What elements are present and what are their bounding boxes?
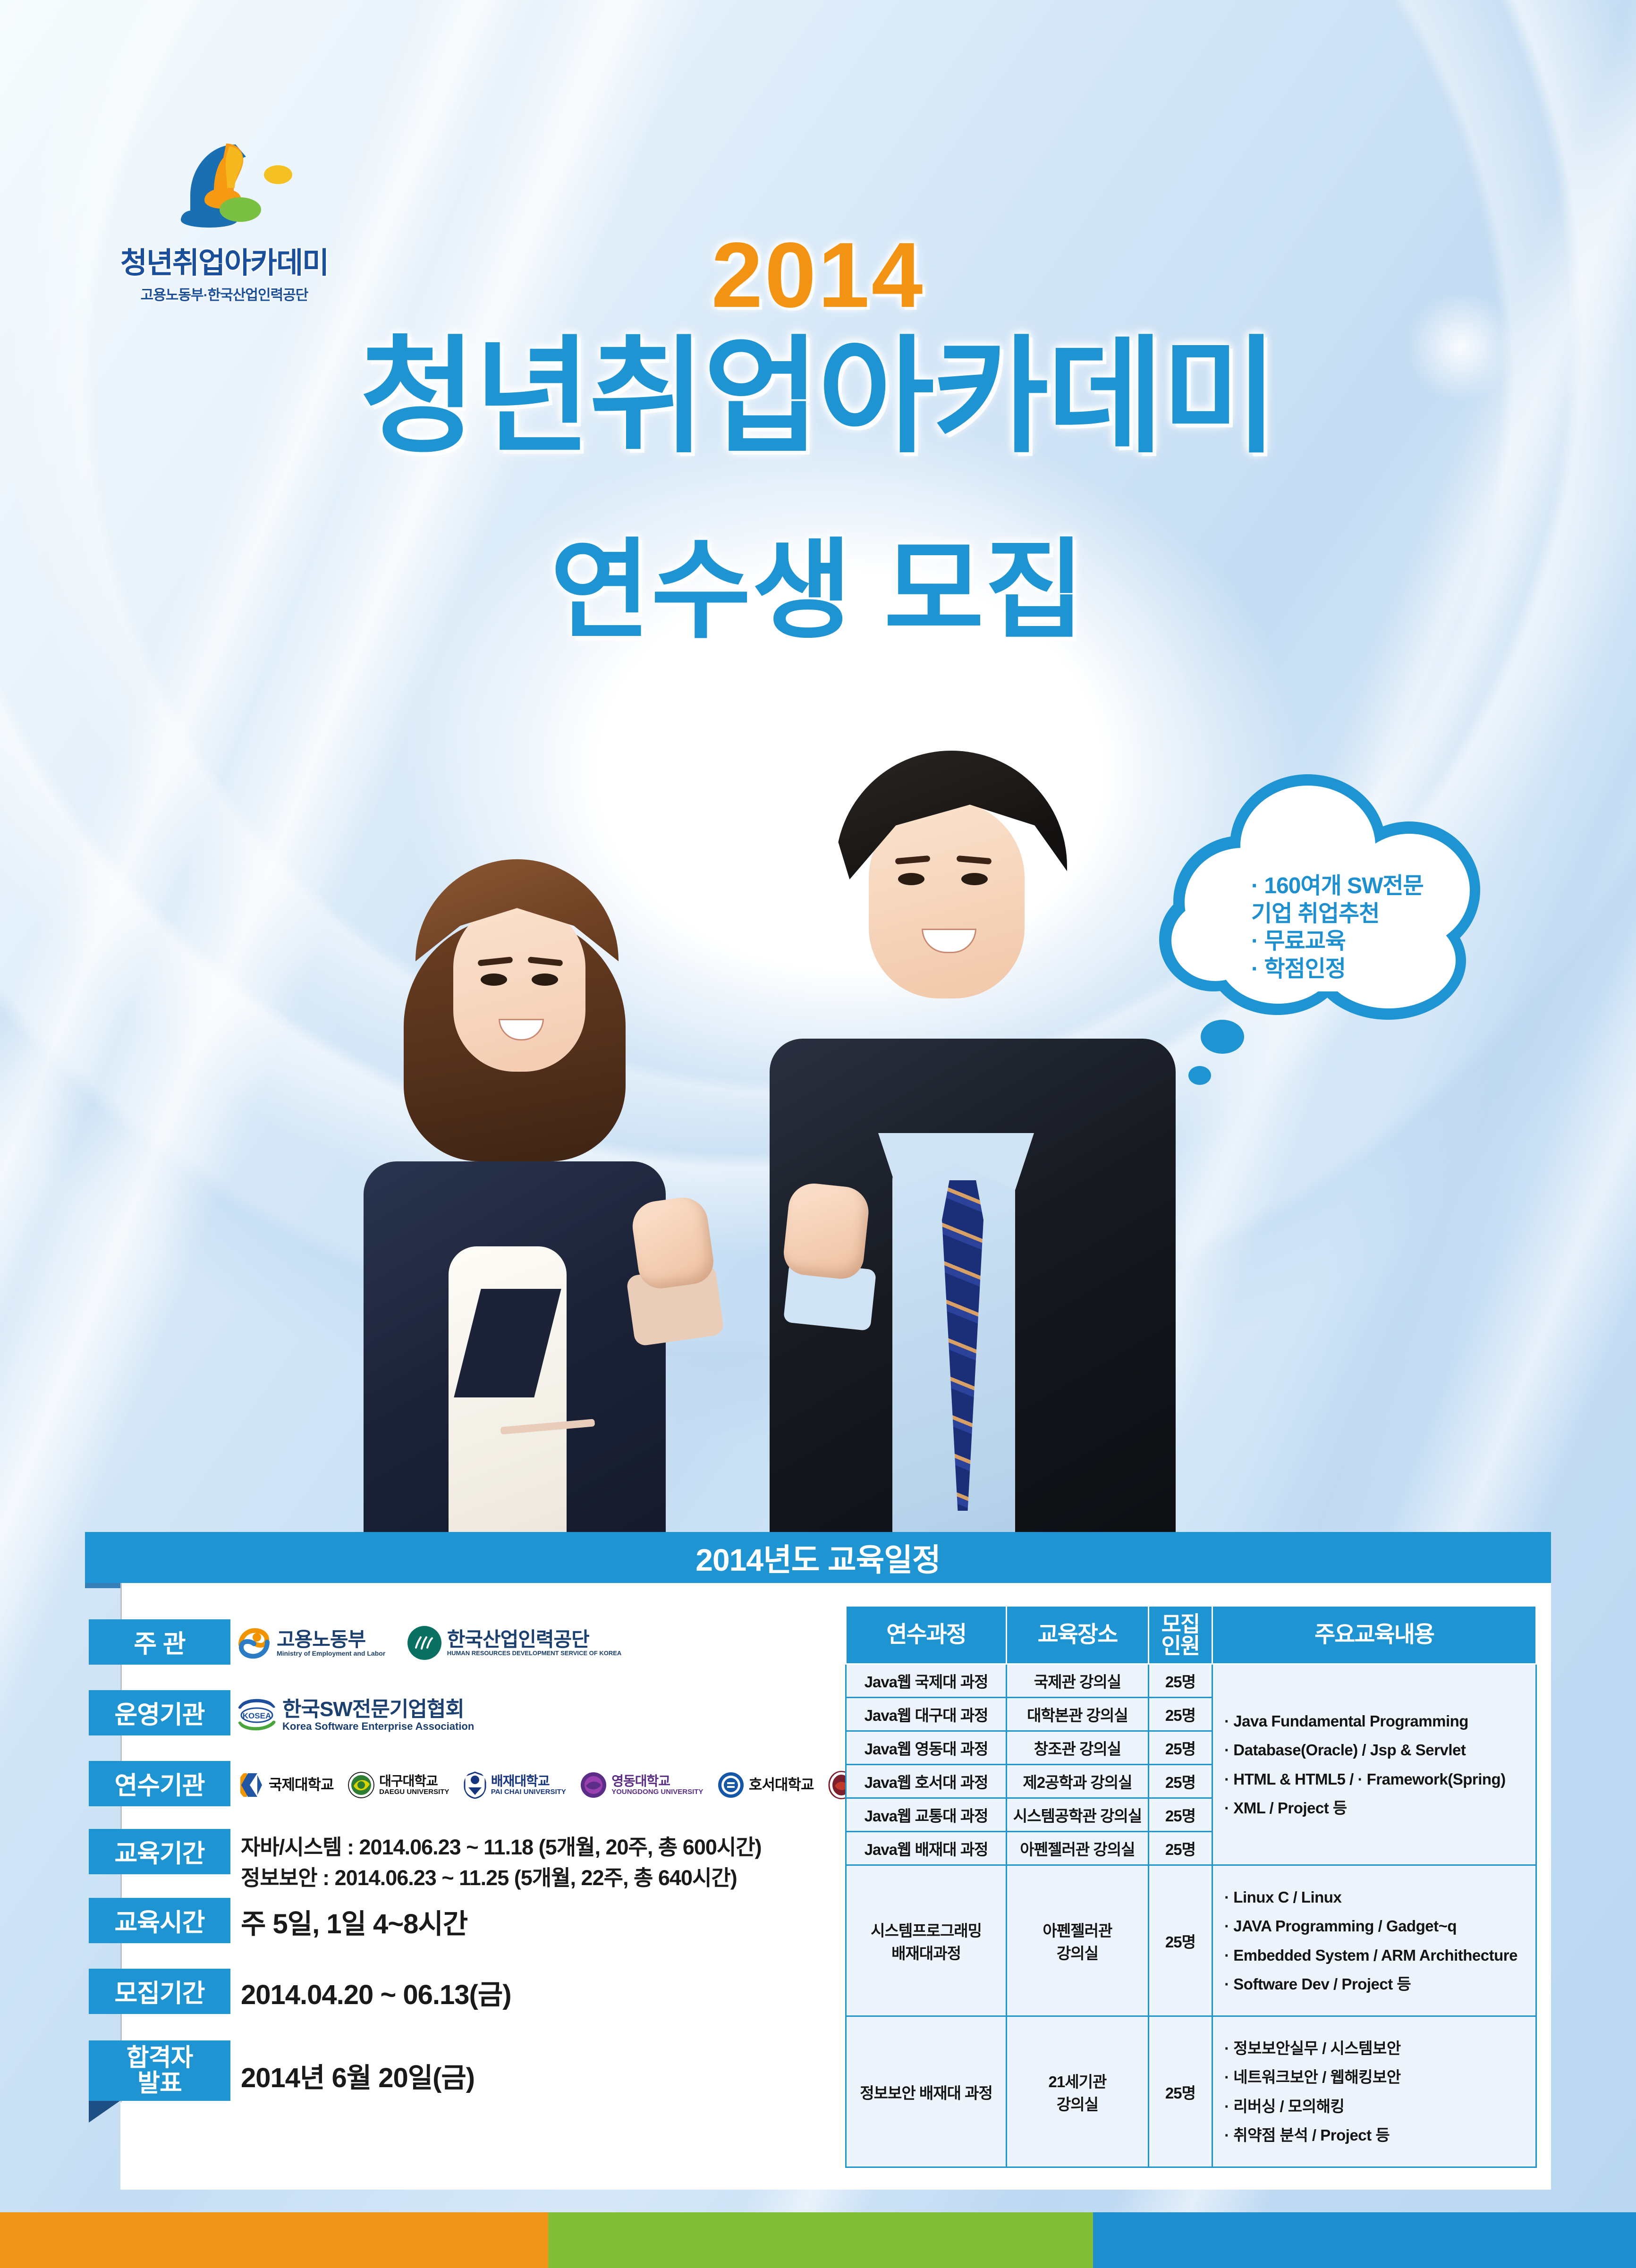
water-drop-logo-icon — [153, 137, 295, 236]
info-label-operator: 운영기관 — [89, 1690, 230, 1735]
logo-paichai-en: PAI CHAI UNIVERSITY — [491, 1788, 566, 1796]
info-value-result-announcement: 2014년 6월 20일(금) — [241, 2056, 475, 2095]
info-row-application-period: 모집기간 — [89, 1969, 230, 2014]
table-header-course: 연수과정 — [846, 1606, 1007, 1664]
logo-youngdong-en: YOUNGDONG UNIVERSITY — [611, 1788, 703, 1796]
logo-kosea-ko: 한국SW전문기업협회 — [282, 1699, 474, 1720]
logo-moel-ko: 고용노동부 — [277, 1629, 385, 1650]
logo-dot-yellow — [264, 165, 292, 184]
cloud-benefits-list: · 160여개 SW전문 기업 취업추천 · 무료교육 · 학점인정 — [1251, 872, 1450, 983]
info-label-training-period: 교육기간 — [89, 1829, 230, 1874]
cell-course: Java웹 호서대 과정 — [846, 1765, 1007, 1798]
logo-hrdkorea: 한국산업인력공단 HUMAN RESOURCES DEVELOPMENT SER… — [407, 1625, 622, 1661]
result-label-line1: 합격자 — [127, 2045, 193, 2071]
info-row-training-period: 교육기간 — [89, 1829, 230, 1874]
info-row-training-hours: 교육시간 — [89, 1898, 230, 1943]
poster-root: 청년취업아카데미 고용노동부·한국산업인력공단 2014 청년취업아카데미 연수… — [0, 0, 1636, 2268]
cell-place: 시스템공학관 강의실 — [1007, 1798, 1149, 1832]
table-header-count-line1: 모집 — [1151, 1613, 1210, 1635]
logo-paichai: 배재대학교 PAI CHAI UNIVERSITY — [464, 1771, 566, 1799]
man-fist — [781, 1181, 871, 1281]
logo-youngdong: 영동대학교 YOUNGDONG UNIVERSITY — [580, 1772, 703, 1798]
footer-stripes — [0, 2212, 1636, 2268]
table-row: 시스템프로그래밍 배재대과정 아펜젤러관 강의실 25명 · Linux C /… — [846, 1865, 1536, 2016]
result-label-line2: 발표 — [137, 2071, 182, 2096]
info-row-result-announcement: 합격자 발표 — [89, 2040, 230, 2101]
logo-dot-green — [220, 197, 261, 222]
headline-line2: 연수생 모집 — [0, 533, 1636, 648]
cell-course: Java웹 국제대 과정 — [846, 1664, 1007, 1698]
cell-place-line2: 강의실 — [1010, 2092, 1145, 2115]
content-line: · JAVA Programming / Gadget~q — [1224, 1912, 1533, 1940]
table-header-count-line2: 인원 — [1151, 1635, 1210, 1657]
cloud-item-3: · 학점인정 — [1251, 956, 1450, 983]
cell-place: 21세기관 강의실 — [1007, 2016, 1149, 2167]
cloud-item-1: 기업 취업추천 — [1251, 900, 1450, 928]
cell-content-security: · 정보보안실무 / 시스템보안 · 네트워크보안 / 웹해킹보안 · 리버싱 … — [1212, 2016, 1536, 2167]
people-photo — [359, 718, 1209, 1549]
content-line: · Java Fundamental Programming — [1224, 1707, 1533, 1735]
hoseo-mark-icon — [718, 1772, 744, 1798]
hrdkorea-mark-icon — [407, 1625, 442, 1661]
cell-content-java: · Java Fundamental Programming · Databas… — [1212, 1664, 1536, 1865]
kosea-mark-icon: KOSEA — [236, 1698, 278, 1733]
content-line: · Software Dev / Project 등 — [1224, 1970, 1533, 1998]
cell-course: Java웹 배재대 과정 — [846, 1832, 1007, 1865]
footer-stripe-blue — [1093, 2212, 1636, 2268]
info-label-training-hours: 교육시간 — [89, 1898, 230, 1943]
cell-count: 25명 — [1148, 1798, 1212, 1832]
table-row: 정보보안 배재대 과정 21세기관 강의실 25명 · 정보보안실무 / 시스템… — [846, 2016, 1536, 2167]
schedule-table: 연수과정 교육장소 모집 인원 주요교육내용 Java웹 국제대 과정 국제관 … — [845, 1605, 1537, 2168]
table-header-row: 연수과정 교육장소 모집 인원 주요교육내용 — [846, 1606, 1536, 1664]
headline-line1: 청년취업아카데미 — [0, 330, 1636, 463]
cell-course: Java웹 대구대 과정 — [846, 1698, 1007, 1731]
cell-count: 25명 — [1148, 1865, 1212, 2016]
logo-hrdkorea-en: HUMAN RESOURCES DEVELOPMENT SERVICE OF K… — [447, 1650, 622, 1657]
cell-place: 창조관 강의실 — [1007, 1731, 1149, 1765]
info-value-training-period: 자바/시스템 : 2014.06.23 ~ 11.18 (5개월, 20주, 총… — [241, 1832, 762, 1894]
logo-daegu: 대구대학교 DAEGU UNIVERSITY — [348, 1772, 449, 1798]
cell-course: Java웹 영동대 과정 — [846, 1731, 1007, 1765]
schedule-banner-title: 2014년도 교육일정 — [695, 1535, 940, 1580]
content-line: · Embedded System / ARM Archithecture — [1224, 1941, 1533, 1970]
info-value-application-period: 2014.04.20 ~ 06.13(금) — [241, 1972, 511, 2012]
info-label-application-period: 모집기간 — [89, 1969, 230, 2014]
content-line: · 네트워크보안 / 웹해킹보안 — [1224, 2063, 1533, 2091]
cell-place-line1: 21세기관 — [1010, 2069, 1145, 2092]
woman-face — [453, 902, 585, 1072]
cell-place-line1: 아펜젤러관 — [1010, 1918, 1145, 1941]
organizer-logos: 고용노동부 Ministry of Employment and Labor 한… — [236, 1625, 640, 1661]
logo-hoseo: 호서대학교 — [718, 1772, 814, 1798]
logo-daegu-en: DAEGU UNIVERSITY — [379, 1788, 449, 1796]
woman-fist — [629, 1194, 716, 1291]
content-line: · 리버싱 / 모의해킹 — [1224, 2092, 1533, 2121]
moel-mark-icon — [236, 1625, 272, 1661]
info-row-operator: 운영기관 — [89, 1690, 230, 1735]
cell-count: 25명 — [1148, 2016, 1212, 2167]
cell-content-system: · Linux C / Linux · JAVA Programming / G… — [1212, 1865, 1536, 2016]
cell-place: 국제관 강의실 — [1007, 1664, 1149, 1698]
cell-count: 25명 — [1148, 1664, 1212, 1698]
logo-hoseo-ko: 호서대학교 — [749, 1777, 814, 1793]
cloud-tail-large — [1201, 1020, 1244, 1054]
cloud-tail-small — [1188, 1066, 1211, 1085]
logo-paichai-ko: 배재대학교 — [491, 1774, 566, 1788]
cell-place-line2: 강의실 — [1010, 1941, 1145, 1963]
cell-count: 25명 — [1148, 1698, 1212, 1731]
table-header-content: 주요교육내용 — [1212, 1606, 1536, 1664]
training-period-line-1: 정보보안 : 2014.06.23 ~ 11.25 (5개월, 22주, 총 6… — [241, 1862, 762, 1893]
logo-kosea: KOSEA 한국SW전문기업협회 Korea Software Enterpri… — [236, 1698, 474, 1733]
training-period-line-0: 자바/시스템 : 2014.06.23 ~ 11.18 (5개월, 20주, 총… — [241, 1832, 762, 1862]
cell-place: 아펜젤러관 강의실 — [1007, 1865, 1149, 2016]
info-row-training-institutions: 연수기관 — [89, 1761, 230, 1806]
speech-cloud: · 160여개 SW전문 기업 취업추천 · 무료교육 · 학점인정 — [1159, 765, 1490, 1095]
cell-course: 정보보안 배재대 과정 — [846, 2016, 1007, 2167]
info-value-training-hours: 주 5일, 1일 4~8시간 — [241, 1902, 467, 1941]
logo-hrdkorea-ko: 한국산업인력공단 — [447, 1629, 622, 1650]
table-header-count: 모집 인원 — [1148, 1606, 1212, 1664]
cell-count: 25명 — [1148, 1731, 1212, 1765]
logo-kookje-ko: 국제대학교 — [269, 1777, 334, 1793]
logo-youngdong-ko: 영동대학교 — [611, 1774, 703, 1788]
cloud-item-0: · 160여개 SW전문 — [1251, 872, 1450, 900]
cell-place: 제2공학과 강의실 — [1007, 1765, 1149, 1798]
content-line: · HTML & HTML5 / · Framework(Spring) — [1224, 1765, 1533, 1794]
cell-course-line1: 시스템프로그래밍 — [849, 1918, 1003, 1941]
svg-text:KOSEA: KOSEA — [243, 1711, 271, 1720]
content-line: · 취약점 분석 / Project 등 — [1224, 2121, 1533, 2150]
cell-course: 시스템프로그래밍 배재대과정 — [846, 1865, 1007, 2016]
schedule-banner: 2014년도 교육일정 — [85, 1532, 1551, 1583]
logo-daegu-ko: 대구대학교 — [379, 1774, 449, 1788]
cell-place: 아펜젤러관 강의실 — [1007, 1832, 1149, 1865]
table-row: Java웹 국제대 과정 국제관 강의실 25명 · Java Fundamen… — [846, 1664, 1536, 1698]
content-line: · 정보보안실무 / 시스템보안 — [1224, 2034, 1533, 2063]
man-face — [869, 800, 1025, 999]
cell-count: 25명 — [1148, 1765, 1212, 1798]
headline-year: 2014 — [0, 222, 1636, 328]
youngdong-mark-icon — [580, 1772, 607, 1798]
cloud-item-2: · 무료교육 — [1251, 928, 1450, 956]
logo-moel: 고용노동부 Ministry of Employment and Labor — [236, 1625, 385, 1661]
info-row-organizer: 주 관 — [89, 1619, 230, 1665]
cell-course-line2: 배재대과정 — [849, 1941, 1003, 1963]
footer-stripe-orange — [0, 2212, 548, 2268]
daegu-mark-icon — [348, 1772, 374, 1798]
info-label-organizer: 주 관 — [89, 1619, 230, 1665]
kookje-mark-icon — [238, 1770, 264, 1800]
paichai-mark-icon — [464, 1771, 486, 1799]
operator-logos: KOSEA 한국SW전문기업협회 Korea Software Enterpri… — [236, 1698, 493, 1733]
content-line: · XML / Project 등 — [1224, 1794, 1533, 1822]
content-line: · Linux C / Linux — [1224, 1883, 1533, 1912]
logo-moel-en: Ministry of Employment and Labor — [277, 1650, 385, 1657]
cell-place: 대학본관 강의실 — [1007, 1698, 1149, 1731]
logo-kookje: 국제대학교 — [238, 1770, 334, 1800]
logo-kosea-en: Korea Software Enterprise Association — [282, 1721, 474, 1732]
cell-count: 25명 — [1148, 1832, 1212, 1865]
footer-stripe-green — [548, 2212, 1093, 2268]
info-label-result-announcement: 합격자 발표 — [89, 2040, 230, 2101]
content-line: · Database(Oracle) / Jsp & Servlet — [1224, 1735, 1533, 1764]
cell-course: Java웹 교통대 과정 — [846, 1798, 1007, 1832]
info-label-training-institutions: 연수기관 — [89, 1761, 230, 1806]
table-header-place: 교육장소 — [1007, 1606, 1149, 1664]
